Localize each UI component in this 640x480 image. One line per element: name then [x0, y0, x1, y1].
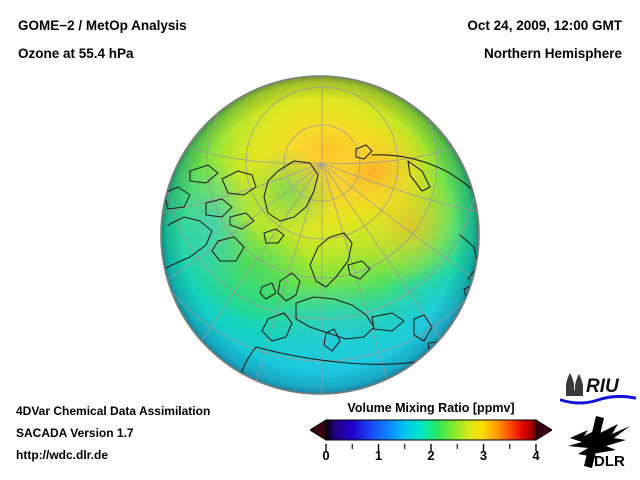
colorbar-tick-label: 1	[367, 448, 391, 463]
riu-swoosh	[561, 396, 635, 403]
colorbar-extend-min	[310, 420, 326, 440]
riu-logo: RIU	[560, 372, 636, 406]
timestamp-label: Oct 24, 2009, 12:00 GMT	[467, 18, 622, 33]
colorbar-tick-label: 0	[314, 448, 338, 463]
footer-line-assimilation: 4DVar Chemical Data Assimilation	[16, 404, 210, 418]
orthographic-projection	[160, 75, 480, 395]
region-label: Northern Hemisphere	[484, 46, 622, 61]
colorbar-tick-label: 2	[419, 448, 443, 463]
colorbar-title: Volume Mixing Ratio [ppmv]	[315, 401, 547, 415]
dlr-logo: DLR	[566, 414, 636, 470]
colorbar[interactable]	[310, 419, 552, 441]
page-subtitle: Ozone at 55.4 hPa	[18, 46, 134, 61]
colorbar-tick-label: 3	[472, 448, 496, 463]
colorbar-gradient	[310, 419, 552, 441]
dlr-wordmark: DLR	[594, 453, 625, 470]
globe-map	[160, 75, 480, 395]
colorbar-tick-labels: 01234	[310, 448, 552, 466]
riu-wordmark: RIU	[586, 376, 620, 397]
page-title: GOME−2 / MetOp Analysis	[18, 18, 187, 33]
cathedral-icon	[566, 373, 583, 396]
colorbar-extend-max	[536, 420, 552, 440]
footer-line-url[interactable]: http://wdc.dlr.de	[16, 448, 108, 462]
footer-line-version: SACADA Version 1.7	[16, 426, 134, 440]
figure-canvas: GOME−2 / MetOp Analysis Ozone at 55.4 hP…	[0, 0, 640, 480]
colorbar-tick-label: 4	[524, 448, 548, 463]
